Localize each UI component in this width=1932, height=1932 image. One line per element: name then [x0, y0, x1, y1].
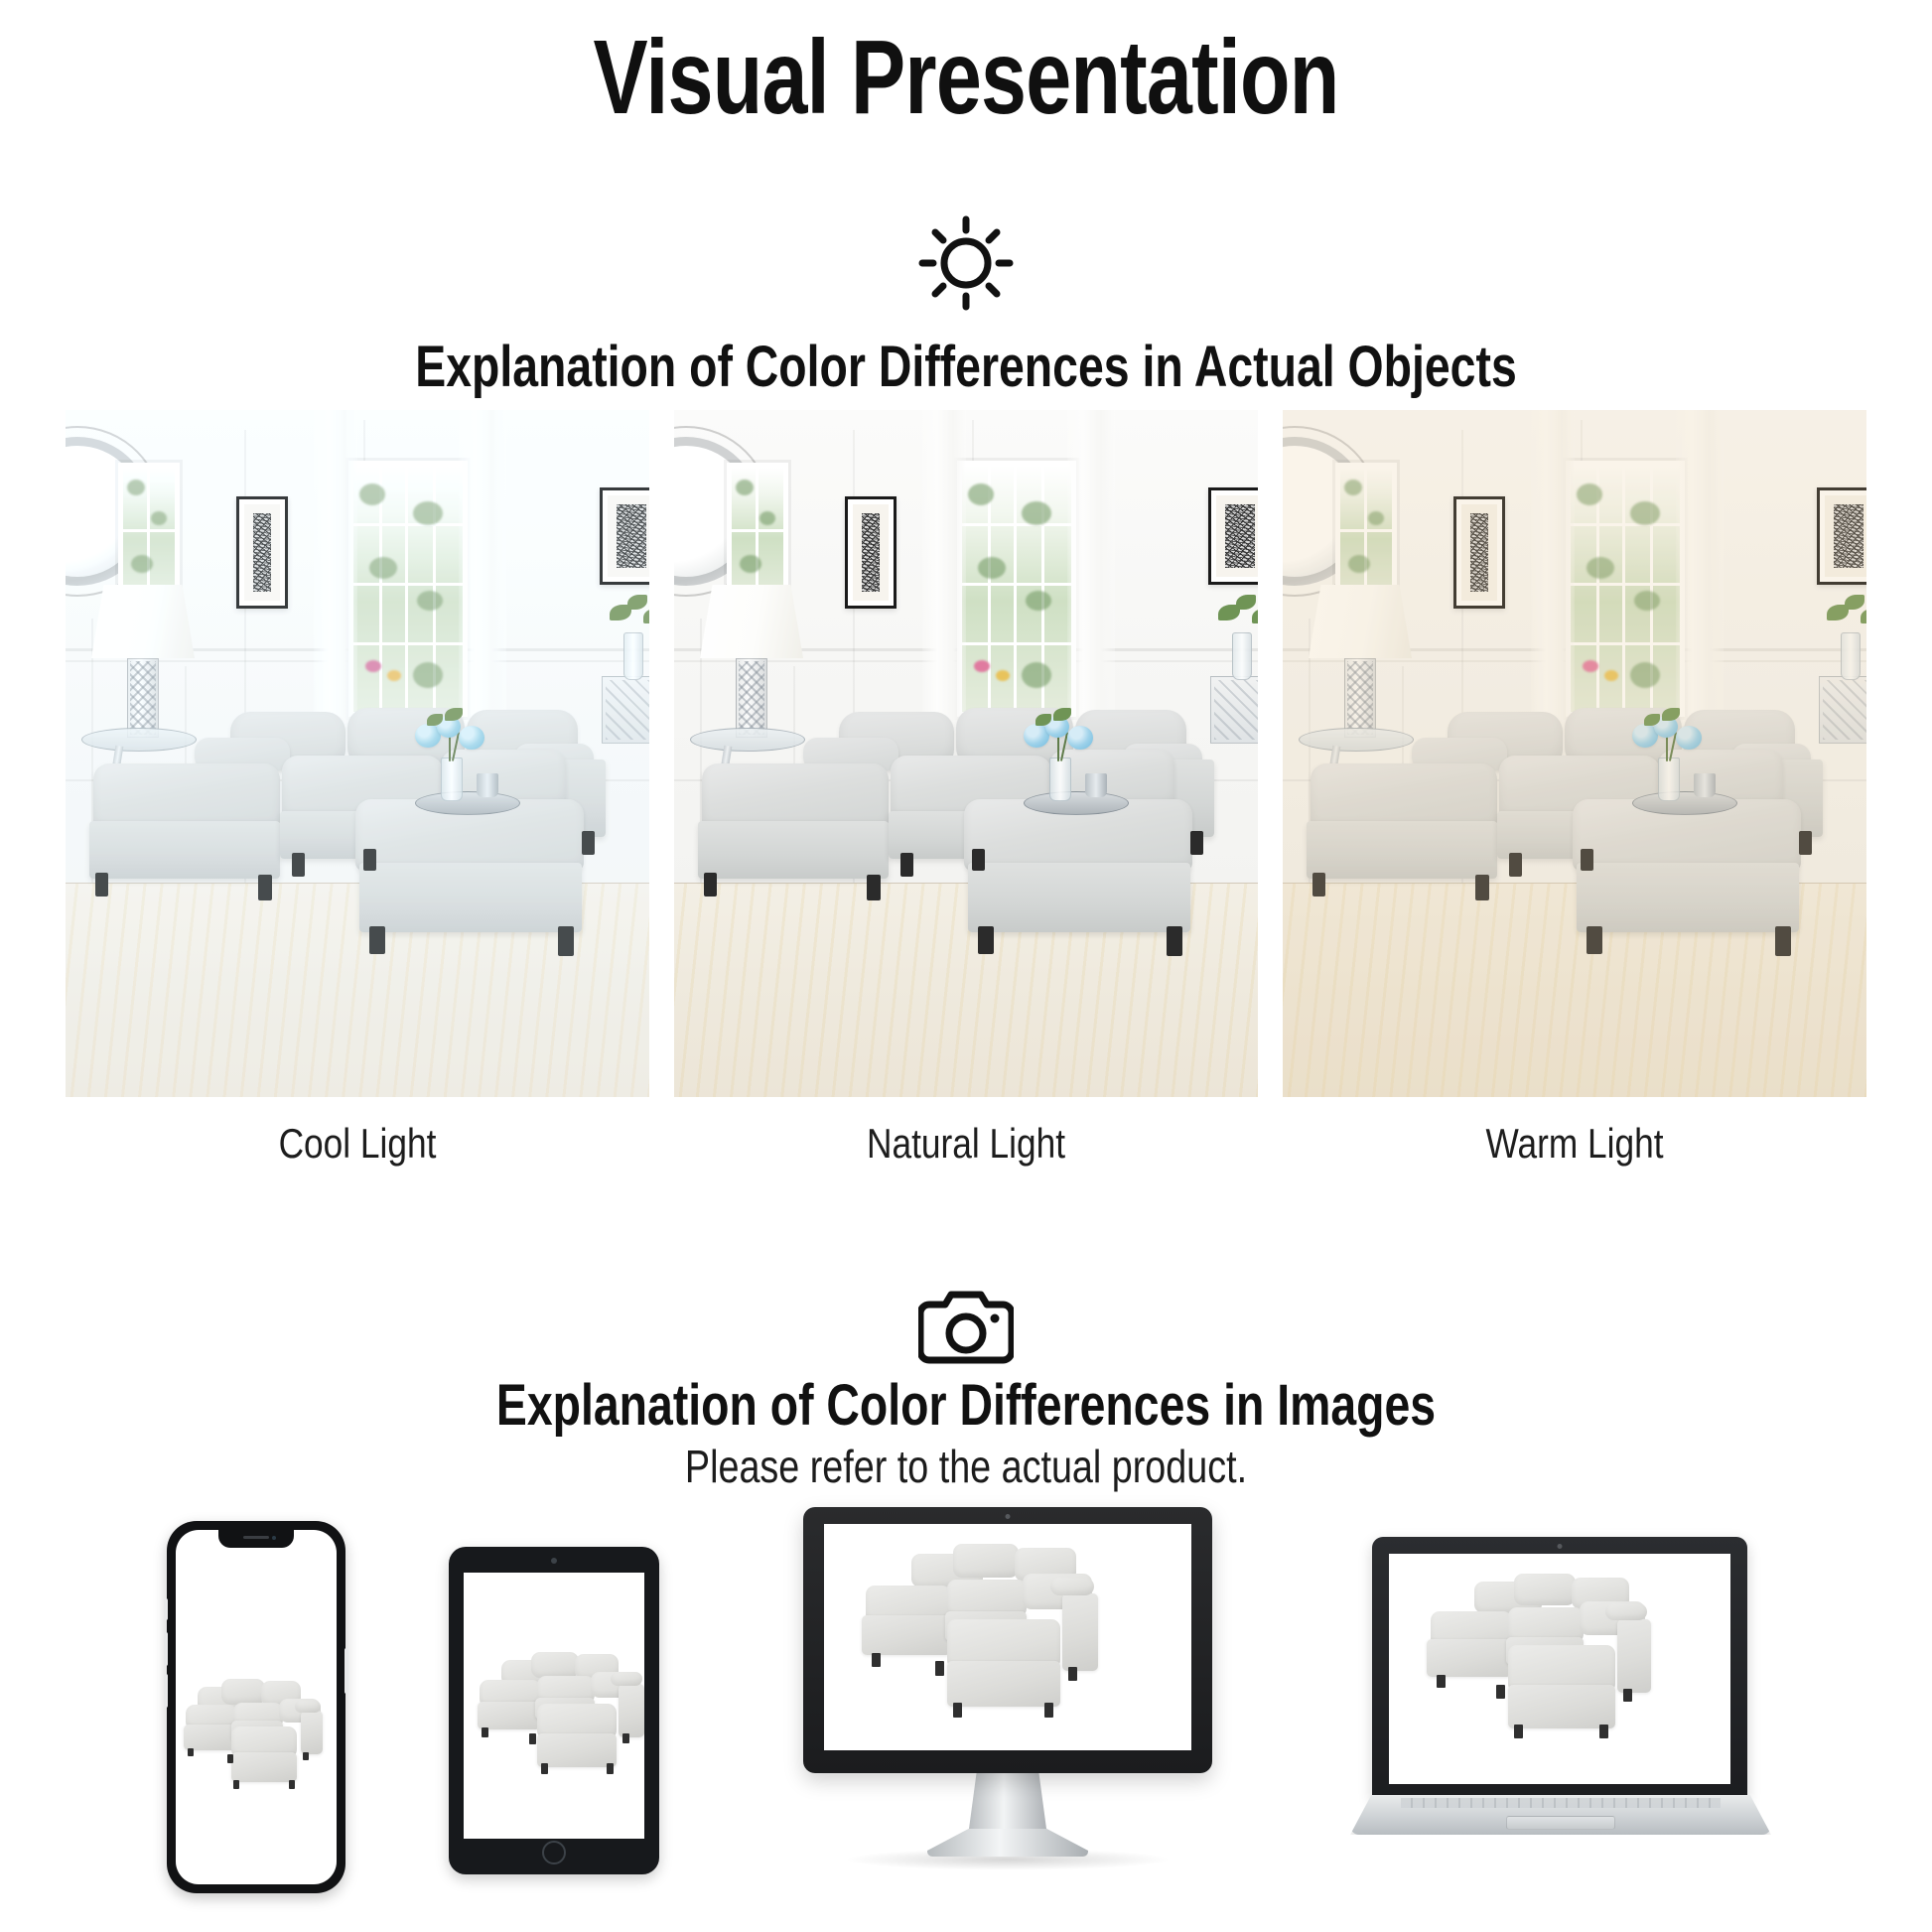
sun-brightness-icon — [916, 213, 1016, 313]
product-image-sofa — [176, 1530, 337, 1884]
glass-vase — [441, 758, 463, 801]
infographic-page: Visual Presentation Explanation of Color… — [0, 0, 1932, 1932]
phone-volume-up-button[interactable] — [164, 1632, 168, 1666]
section-title-objects: Explanation of Color Differences in Actu… — [194, 334, 1739, 400]
wall-art-left — [1453, 496, 1505, 609]
camera-icon — [918, 1286, 1014, 1369]
hydrangea-bloom — [1067, 726, 1093, 750]
phone-volume-down-button[interactable] — [164, 1674, 168, 1708]
side-table — [1299, 728, 1414, 752]
wall-art-right — [1817, 487, 1866, 585]
laptop-keyboard[interactable] — [1401, 1798, 1721, 1808]
room-scene — [1283, 410, 1866, 1097]
french-doors — [962, 466, 1071, 712]
wall-art-right — [1208, 487, 1258, 585]
product-image-sofa — [464, 1573, 644, 1839]
phone-screen — [176, 1530, 337, 1884]
monitor-screen — [824, 1524, 1191, 1750]
side-window — [732, 468, 783, 597]
silver-cup — [477, 773, 498, 797]
wall-art-right — [600, 487, 649, 585]
crystal-vase — [1841, 632, 1861, 680]
side-table — [81, 728, 197, 752]
serving-tray — [1632, 791, 1737, 815]
table-lamp-shade — [1309, 585, 1412, 658]
monitor-stand-neck — [969, 1771, 1046, 1829]
table-lamp-shade — [700, 585, 803, 658]
french-doors — [353, 466, 463, 712]
monitor-base — [927, 1827, 1088, 1857]
table-lamp-base — [1344, 658, 1376, 738]
laptop-mockup — [1350, 1537, 1771, 1845]
tablet-front-camera — [551, 1558, 557, 1564]
french-doors — [1571, 466, 1680, 712]
lighting-comparison-panels — [66, 410, 1868, 1097]
laptop-screen — [1389, 1554, 1730, 1784]
mirrored-console — [1819, 676, 1866, 744]
hydrangea-bloom — [1676, 726, 1702, 750]
serving-tray — [1024, 791, 1129, 815]
laptop-webcam — [1558, 1544, 1563, 1549]
monitor-webcam — [1006, 1514, 1011, 1519]
laptop-trackpad[interactable] — [1506, 1816, 1615, 1830]
caption-warm-light: Warm Light — [1329, 1120, 1820, 1189]
panel-captions: Cool Light Natural Light Warm Light — [66, 1120, 1868, 1189]
table-lamp-base — [736, 658, 767, 738]
wall-art-left — [236, 496, 288, 609]
tablet-home-button[interactable] — [542, 1841, 566, 1864]
silver-cup — [1694, 773, 1716, 797]
section-title-images: Explanation of Color Differences in Imag… — [194, 1372, 1739, 1439]
page-title: Visual Presentation — [212, 18, 1720, 138]
photo-panel-natural-light — [674, 410, 1258, 1097]
caption-cool-light: Cool Light — [112, 1120, 603, 1189]
silver-cup — [1085, 773, 1107, 797]
glass-vase — [1049, 758, 1071, 801]
desktop-monitor-mockup — [803, 1507, 1212, 1874]
product-image-sofa — [824, 1524, 1191, 1750]
serving-tray — [415, 791, 520, 815]
room-scene — [66, 410, 649, 1097]
glass-vase — [1658, 758, 1680, 801]
caption-natural-light: Natural Light — [721, 1120, 1211, 1189]
phone-power-button[interactable] — [345, 1648, 348, 1694]
device-mockup-row — [0, 1489, 1932, 1916]
smartphone-mockup — [167, 1521, 345, 1893]
tablet-mockup — [449, 1547, 659, 1874]
wall-art-left — [845, 496, 897, 609]
section-note: Please refer to the actual product. — [174, 1440, 1758, 1493]
crystal-vase — [1232, 632, 1252, 680]
mirrored-console — [1210, 676, 1258, 744]
room-scene — [674, 410, 1258, 1097]
side-window — [123, 468, 175, 597]
mirrored-console — [602, 676, 649, 744]
hydrangea-bloom — [459, 726, 484, 750]
crystal-vase — [623, 632, 643, 680]
phone-mute-button[interactable] — [164, 1598, 168, 1620]
tablet-screen — [464, 1573, 644, 1839]
photo-panel-cool-light — [66, 410, 649, 1097]
product-image-sofa — [1389, 1554, 1730, 1784]
table-lamp-shade — [91, 585, 195, 658]
phone-notch — [218, 1530, 294, 1548]
table-lamp-base — [127, 658, 159, 738]
photo-panel-warm-light — [1283, 410, 1866, 1097]
side-table — [690, 728, 805, 752]
side-window — [1340, 468, 1392, 597]
